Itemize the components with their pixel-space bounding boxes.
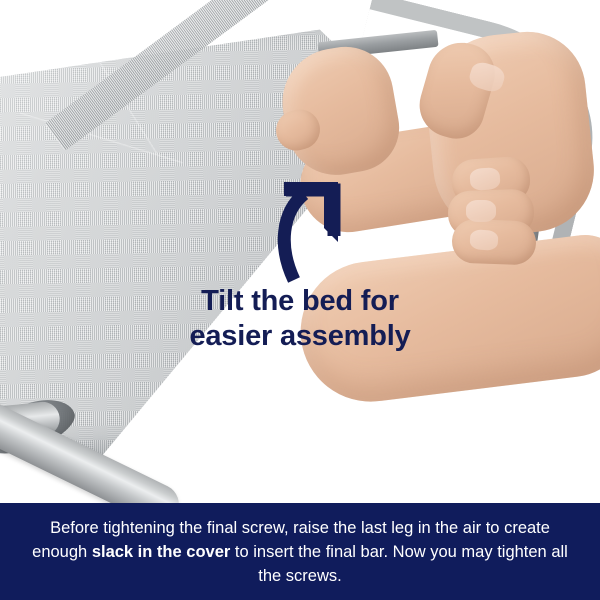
headline: Tilt the bed for easier assembly bbox=[0, 284, 600, 354]
fingernail bbox=[469, 229, 498, 251]
product-photo: Tilt the bed for easier assembly bbox=[0, 0, 600, 505]
curved-up-arrow-icon bbox=[272, 168, 364, 284]
headline-line-2: easier assembly bbox=[0, 319, 600, 354]
headline-line-1: Tilt the bed for bbox=[0, 284, 600, 319]
banner-text-emphasis: slack in the cover bbox=[92, 543, 231, 561]
banner-text: Before tightening the final screw, raise… bbox=[24, 516, 576, 588]
fingernail bbox=[469, 167, 500, 191]
banner-text-part-2: to insert the final bar. Now you may tig… bbox=[230, 543, 568, 585]
instruction-image: Tilt the bed for easier assembly Before … bbox=[0, 0, 600, 600]
fingernail bbox=[466, 200, 496, 222]
instruction-banner: Before tightening the final screw, raise… bbox=[0, 503, 600, 600]
